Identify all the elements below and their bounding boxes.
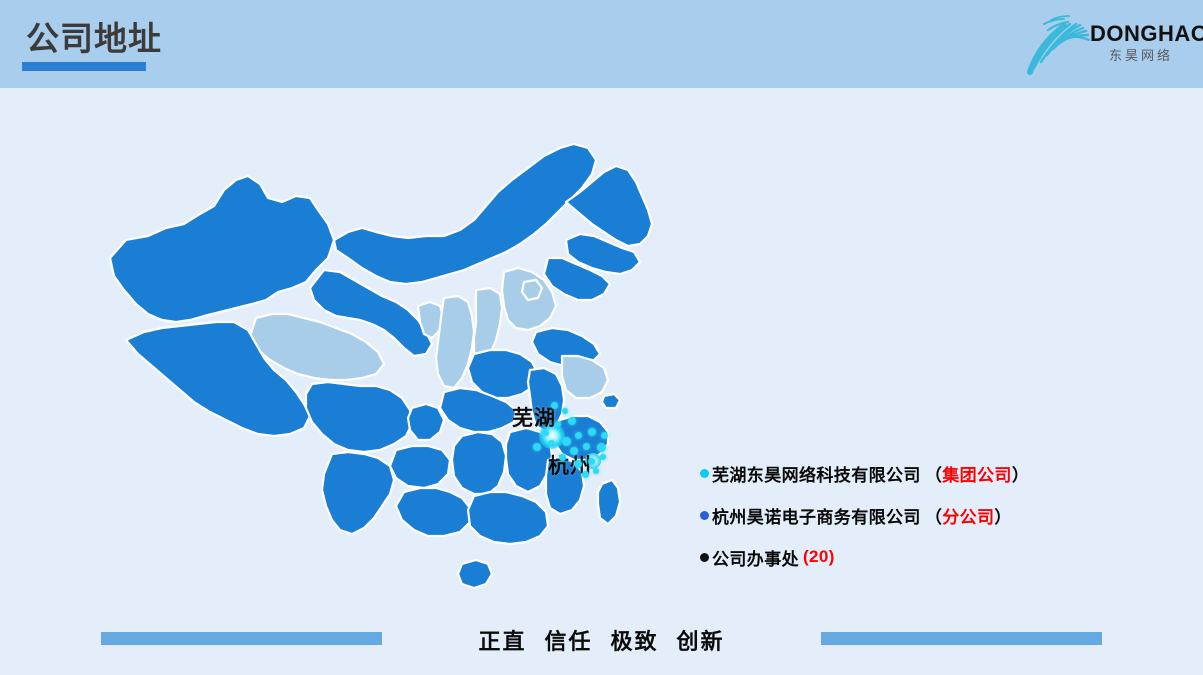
province-shaanxi xyxy=(436,296,474,388)
province-yunnan xyxy=(322,452,394,534)
legend: 芜湖东昊网络科技有限公司 （集团公司） 杭州昊诺电子商务有限公司 （分公司） 公… xyxy=(700,460,1170,586)
province-hunan xyxy=(452,432,506,494)
legend-bullet-icon xyxy=(700,553,709,562)
company-logo: DONGHAO 东昊网络 xyxy=(1018,8,1193,80)
slogan-word-1: 正直 xyxy=(478,629,526,654)
logo-text-block: DONGHAO 东昊网络 xyxy=(1090,21,1192,65)
legend-item-offices[interactable]: 公司办事处 (20) xyxy=(700,544,1170,570)
logo-subtitle: 东昊网络 xyxy=(1090,47,1192,65)
province-guangdong xyxy=(468,492,548,544)
slogan-word-4: 创新 xyxy=(677,629,725,654)
legend-company-tag: (20) xyxy=(803,547,835,567)
province-fujian xyxy=(546,458,584,514)
title-underline xyxy=(22,62,146,71)
tag-open-paren: （ xyxy=(925,508,942,527)
slogan-word-2: 信任 xyxy=(544,629,592,654)
tag-text: (20) xyxy=(803,547,835,566)
legend-bullet-icon xyxy=(700,511,709,520)
province-guizhou xyxy=(390,446,450,488)
legend-bullet-icon xyxy=(700,469,709,478)
legend-item-group-company[interactable]: 芜湖东昊网络科技有限公司 （集团公司） xyxy=(700,460,1170,486)
province-chongqing xyxy=(408,404,444,440)
legend-company-name: 杭州昊诺电子商务有限公司 xyxy=(712,503,921,528)
footer-slogan: 正直信任极致创新 xyxy=(0,624,1203,656)
province-sichuan xyxy=(306,382,412,452)
legend-item-branch-company[interactable]: 杭州昊诺电子商务有限公司 （分公司） xyxy=(700,502,1170,528)
donghao-feather-logo-icon xyxy=(1020,10,1092,76)
province-hainan xyxy=(458,560,492,588)
province-taiwan xyxy=(598,480,620,524)
tag-text: 分公司 xyxy=(942,508,994,527)
province-beijing xyxy=(522,280,542,300)
province-xinjiang xyxy=(110,176,334,322)
province-zhejiang xyxy=(554,416,608,460)
province-guangxi xyxy=(396,488,470,536)
china-map-svg xyxy=(96,140,676,610)
province-shanghai xyxy=(602,394,620,408)
china-map[interactable]: 芜湖 杭州 xyxy=(96,140,676,610)
legend-company-name: 公司办事处 xyxy=(712,545,799,570)
slogan-word-3: 极致 xyxy=(611,629,659,654)
legend-company-tag: （集团公司） xyxy=(925,461,1029,486)
tag-open-paren: （ xyxy=(925,466,942,485)
province-jiangsu xyxy=(562,356,608,398)
logo-name: DONGHAO xyxy=(1090,21,1192,46)
tag-close-paren: ） xyxy=(1012,466,1029,485)
tag-text: 集团公司 xyxy=(942,466,1012,485)
legend-company-name: 芜湖东昊网络科技有限公司 xyxy=(712,461,921,486)
slide-root: 公司地址 DONGHAO 东昊网络 xyxy=(0,0,1203,675)
page-title: 公司地址 xyxy=(26,18,162,60)
tag-close-paren: ） xyxy=(994,508,1011,527)
legend-company-tag: （分公司） xyxy=(925,503,1012,528)
